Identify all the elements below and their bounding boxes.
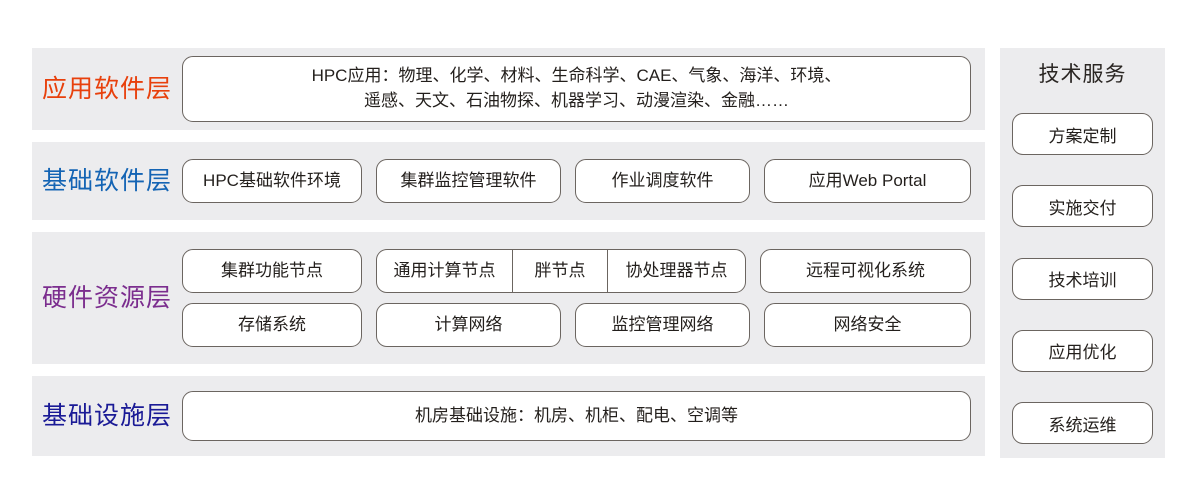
cell-fat-node: 胖节点 [512,250,607,292]
box-hpc-basic-software-environment: HPC基础软件环境 [182,159,362,203]
box-compute-network: 计算网络 [376,303,561,347]
layer-application: 应用软件层 HPC应用：物理、化学、材料、生命科学、CAE、气象、海洋、环境、 … [32,48,985,130]
box-job-scheduling-software: 作业调度软件 [575,159,750,203]
service-item-solution-customization: 方案定制 [1012,113,1153,155]
layer-label-application: 应用软件层 [32,77,182,102]
layer-stack: 应用软件层 HPC应用：物理、化学、材料、生命科学、CAE、气象、海洋、环境、 … [32,48,985,458]
cell-general-compute-node: 通用计算节点 [377,250,512,292]
service-item-technical-training: 技术培训 [1012,258,1153,300]
box-compute-node-group: 通用计算节点 胖节点 协处理器节点 [376,249,746,293]
hardware-row-1: 集群功能节点 通用计算节点 胖节点 协处理器节点 远程可视化系统 [182,249,971,293]
box-application-web-portal: 应用Web Portal [764,159,971,203]
layer-label-infrastructure: 基础设施层 [32,404,182,429]
service-item-system-operation-maintenance: 系统运维 [1012,402,1153,444]
box-cluster-monitoring-management-software: 集群监控管理软件 [376,159,561,203]
box-cluster-function-node: 集群功能节点 [182,249,362,293]
box-network-security: 网络安全 [764,303,971,347]
hardware-row-2: 存储系统 计算网络 监控管理网络 网络安全 [182,303,971,347]
layer-content-application: HPC应用：物理、化学、材料、生命科学、CAE、气象、海洋、环境、 遥感、天文、… [182,56,971,122]
hpc-applications-line-1: HPC应用：物理、化学、材料、生命科学、CAE、气象、海洋、环境、 [312,64,842,89]
basic-software-row: HPC基础软件环境 集群监控管理软件 作业调度软件 应用Web Portal [182,159,971,203]
layer-hardware: 硬件资源层 集群功能节点 通用计算节点 胖节点 协处理器节点 远程可视化系统 存… [32,232,985,364]
application-row: HPC应用：物理、化学、材料、生命科学、CAE、气象、海洋、环境、 遥感、天文、… [182,56,971,122]
layer-label-hardware: 硬件资源层 [32,286,182,311]
layer-infrastructure: 基础设施层 机房基础设施：机房、机柜、配电、空调等 [32,376,985,456]
layer-content-basic-software: HPC基础软件环境 集群监控管理软件 作业调度软件 应用Web Portal [182,159,971,203]
service-item-implementation-delivery: 实施交付 [1012,185,1153,227]
layer-basic-software: 基础软件层 HPC基础软件环境 集群监控管理软件 作业调度软件 应用Web Po… [32,142,985,220]
box-storage-system: 存储系统 [182,303,362,347]
layer-label-basic-software: 基础软件层 [32,169,182,194]
box-hpc-applications: HPC应用：物理、化学、材料、生命科学、CAE、气象、海洋、环境、 遥感、天文、… [182,56,971,122]
box-data-center-infrastructure: 机房基础设施：机房、机柜、配电、空调等 [182,391,971,441]
service-item-application-optimization: 应用优化 [1012,330,1153,372]
cell-coprocessor-node: 协处理器节点 [607,250,745,292]
box-remote-visualization-system: 远程可视化系统 [760,249,971,293]
architecture-diagram: 应用软件层 HPC应用：物理、化学、材料、生命科学、CAE、气象、海洋、环境、 … [0,0,1200,500]
hpc-applications-line-2: 遥感、天文、石油物探、机器学习、动漫渲染、金融…… [312,89,842,114]
technical-services-list: 方案定制 实施交付 技术培训 应用优化 系统运维 [1012,113,1153,444]
layer-content-hardware: 集群功能节点 通用计算节点 胖节点 协处理器节点 远程可视化系统 存储系统 计算… [182,249,971,347]
infrastructure-row: 机房基础设施：机房、机柜、配电、空调等 [182,391,971,441]
technical-services-panel: 技术服务 方案定制 实施交付 技术培训 应用优化 系统运维 [1000,48,1165,458]
layer-content-infrastructure: 机房基础设施：机房、机柜、配电、空调等 [182,391,971,441]
box-monitoring-management-network: 监控管理网络 [575,303,750,347]
technical-services-title: 技术服务 [1039,64,1127,85]
